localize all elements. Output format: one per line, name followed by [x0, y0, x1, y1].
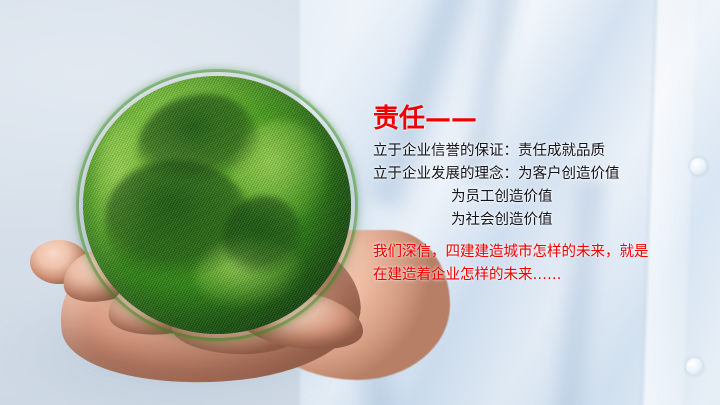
- closing-line-1: 我们深信，四建建造城市怎样的未来，就是: [373, 241, 713, 264]
- headline: 责任——: [373, 104, 713, 134]
- body-line-3: 为员工创造价值: [373, 186, 713, 209]
- shirt-button-icon: [686, 358, 703, 375]
- text-block: 责任—— 立于企业信誉的保证：责任成就品质 立于企业发展的理念：为客户创造价值 …: [373, 104, 713, 287]
- body-line-4: 为社会创造价值: [373, 209, 713, 232]
- spacer: [373, 232, 713, 241]
- body-line-2: 立于企业发展的理念：为客户创造价值: [373, 163, 713, 186]
- grass-globe: [83, 76, 351, 334]
- closing-line-2: 在建造着企业怎样的未来……: [373, 264, 713, 287]
- grass-texture: [83, 76, 351, 334]
- slide-canvas: 责任—— 立于企业信誉的保证：责任成就品质 立于企业发展的理念：为客户创造价值 …: [0, 0, 720, 405]
- body-line-1: 立于企业信誉的保证：责任成就品质: [373, 140, 713, 163]
